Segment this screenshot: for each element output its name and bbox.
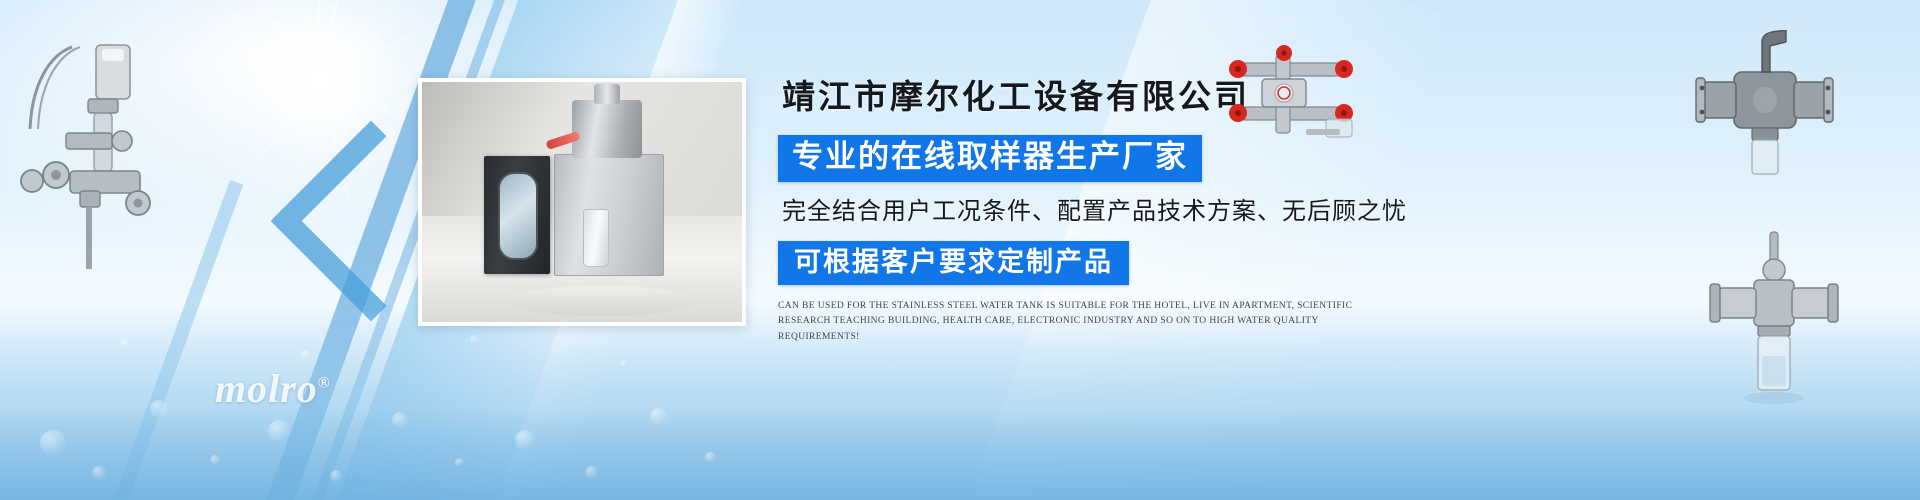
right-bottom-product-image: [1700, 230, 1850, 405]
brand-logo-watermark: molro®: [215, 365, 331, 412]
photo-sample-bottle: [583, 209, 609, 267]
bubble: [585, 466, 598, 479]
headline-secondary-badge: 可根据客户要求定制产品: [778, 241, 1129, 285]
bubble: [620, 360, 627, 367]
bubble: [150, 400, 168, 418]
logo-text: molro: [215, 366, 318, 411]
headline-primary-badge: 专业的在线取样器生产厂家: [778, 135, 1202, 182]
bubble: [515, 430, 535, 450]
english-description-paragraph: CAN BE USED FOR THE STAINLESS STEEL WATE…: [778, 299, 1378, 345]
photo-sampler-cabinet: [554, 154, 664, 276]
photo-base-pedestal: [514, 286, 690, 316]
photo-door-window: [498, 172, 538, 260]
bubble: [705, 452, 716, 463]
photo-cabinet-door: [484, 156, 550, 274]
bubble: [300, 350, 311, 361]
left-product-image: [10, 25, 170, 285]
right-top-product-image: [1218, 45, 1368, 155]
bubble: [470, 335, 479, 344]
bubble: [330, 470, 342, 482]
subline-text: 完全结合用户工况条件、配置产品技术方案、无后顾之忧: [778, 198, 1418, 227]
right-middle-product-image: [1690, 30, 1840, 180]
bubble: [268, 420, 290, 442]
promotional-banner: 靖江市摩尔化工设备有限公司 专业的在线取样器生产厂家 完全结合用户工况条件、配置…: [0, 0, 1920, 500]
photo-valve-head: [572, 100, 642, 158]
center-product-photo-inner: [422, 82, 742, 322]
bubble: [650, 408, 667, 425]
bubble: [455, 458, 464, 467]
bubble: [40, 430, 66, 456]
logo-registered-mark: ®: [318, 375, 331, 392]
bubble: [392, 412, 408, 428]
bubble: [120, 340, 128, 348]
center-product-photo: [418, 78, 746, 326]
bubble: [92, 466, 106, 480]
bubble: [210, 455, 220, 465]
